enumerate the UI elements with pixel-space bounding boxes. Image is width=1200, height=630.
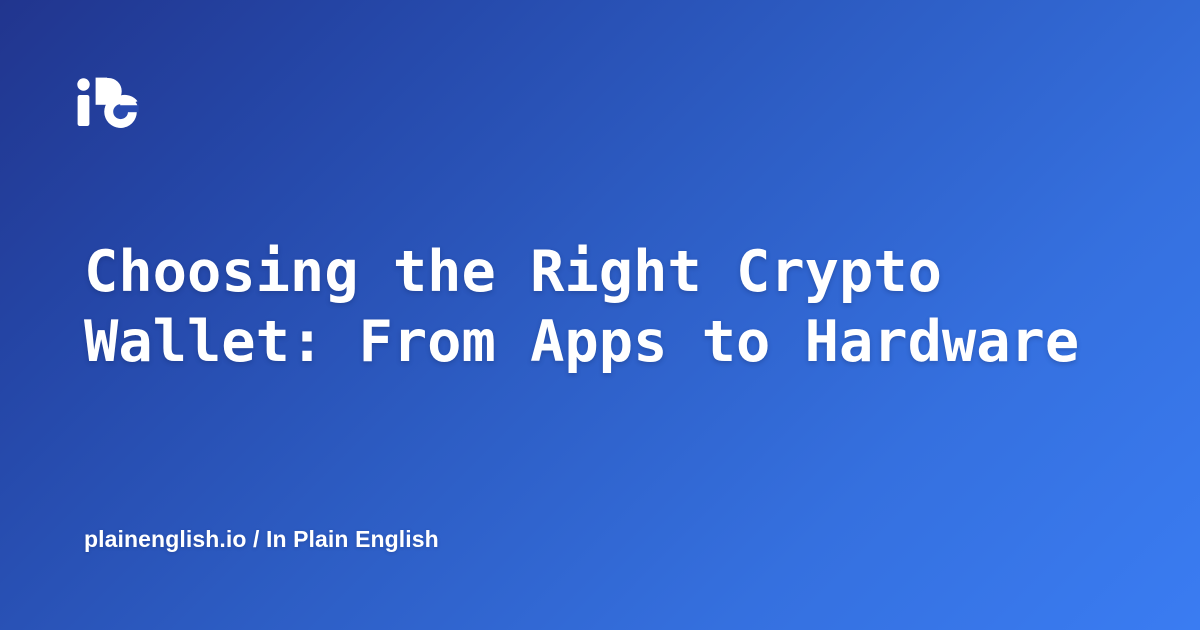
og-share-card: Choosing the Right Crypto Wallet: From A… — [0, 0, 1200, 630]
footer-byline: plainenglish.io / In Plain English — [84, 524, 439, 554]
ipe-logo[interactable] — [74, 76, 150, 128]
page-title: Choosing the Right Crypto Wallet: From A… — [84, 237, 1124, 377]
footer: plainenglish.io / In Plain English — [84, 524, 439, 554]
title-block: Choosing the Right Crypto Wallet: From A… — [84, 237, 1124, 377]
ipe-logo-icon — [74, 76, 150, 128]
